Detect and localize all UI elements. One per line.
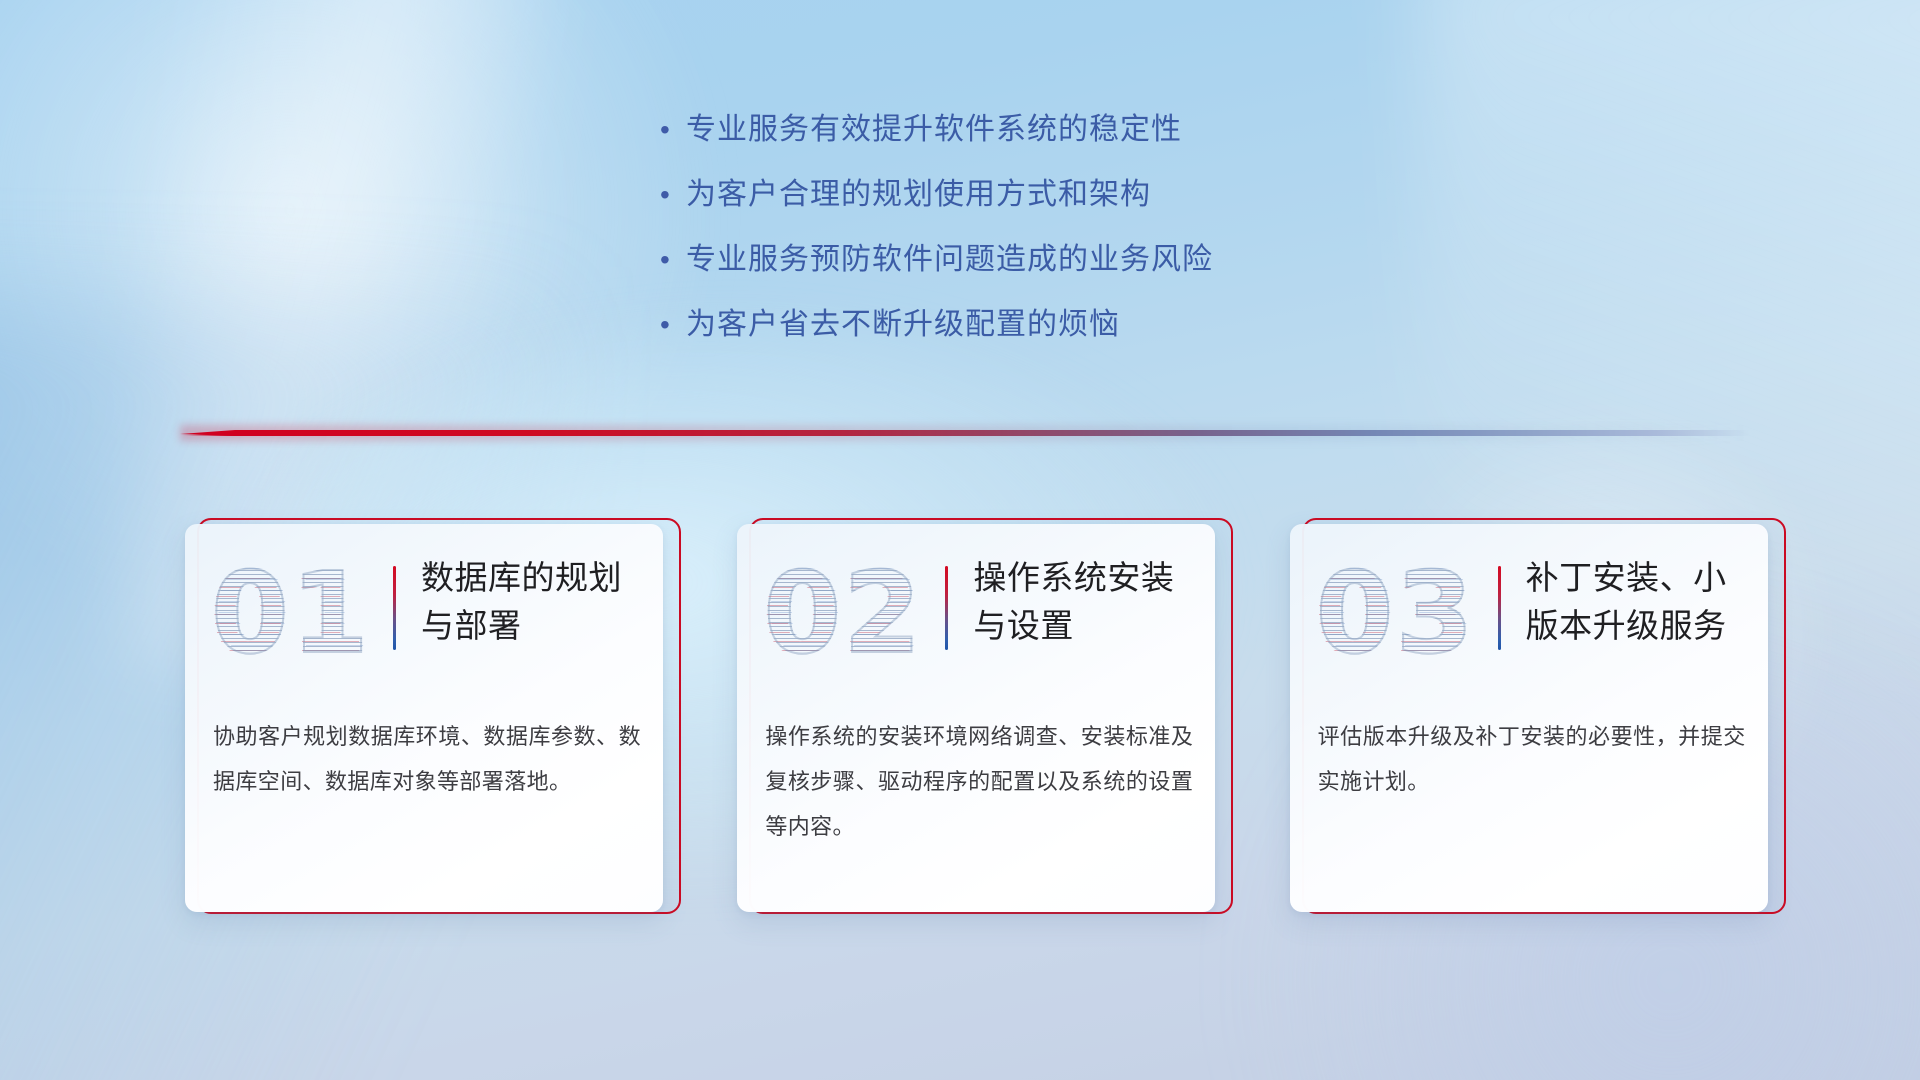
bullet-text: 为客户省去不断升级配置的烦恼 — [686, 303, 1120, 347]
card-title: 补丁安装、小版本升级服务 — [1526, 554, 1752, 650]
card-surface: 01 01 01 数据库的规划与部署 协助客户规划数据库环境、数据库参数、数据库… — [185, 524, 663, 912]
card-body-text: 协助客户规划数据库环境、数据库参数、数据库空间、数据库对象等部署落地。 — [213, 714, 641, 804]
bullet-item: • 为客户合理的规划使用方式和架构 — [660, 173, 1420, 238]
card-body-text: 评估版本升级及补丁安装的必要性，并提交实施计划。 — [1318, 714, 1746, 804]
service-card-list: 01 01 01 数据库的规划与部署 协助客户规划数据库环境、数据库参数、数据库… — [185, 518, 1785, 918]
bullet-item: • 专业服务预防软件问题造成的业务风险 — [660, 238, 1420, 303]
bullet-text: 为客户合理的规划使用方式和架构 — [686, 173, 1151, 217]
bullet-text: 专业服务有效提升软件系统的稳定性 — [686, 108, 1182, 152]
card-surface: 03 03 03 补丁安装、小版本升级服务 评估版本升级及补丁安装的必要性，并提… — [1290, 524, 1768, 912]
service-card-01[interactable]: 01 01 01 数据库的规划与部署 协助客户规划数据库环境、数据库参数、数据库… — [185, 518, 680, 918]
card-body-text: 操作系统的安装环境网络调查、安装标准及复核步骤、驱动程序的配置以及系统的设置等内… — [765, 714, 1193, 849]
service-card-02[interactable]: 02 02 02 操作系统安装与设置 操作系统的安装环境网络调查、安装标准及复核… — [737, 518, 1232, 918]
card-title: 数据库的规划与部署 — [421, 554, 647, 650]
card-title-rule — [393, 566, 396, 650]
card-title: 操作系统安装与设置 — [973, 554, 1199, 650]
bullet-marker-icon: • — [660, 303, 686, 347]
card-surface: 02 02 02 操作系统安装与设置 操作系统的安装环境网络调查、安装标准及复核… — [737, 524, 1215, 912]
bullet-marker-icon: • — [660, 238, 686, 282]
card-number: 02 — [763, 558, 923, 670]
bullet-text: 专业服务预防软件问题造成的业务风险 — [686, 238, 1213, 282]
card-title-rule — [945, 566, 948, 650]
benefits-bullet-list: • 专业服务有效提升软件系统的稳定性 • 为客户合理的规划使用方式和架构 • 专… — [660, 108, 1420, 368]
bullet-marker-icon: • — [660, 108, 686, 152]
card-title-rule — [1498, 566, 1501, 650]
card-number: 01 — [211, 558, 371, 670]
bullet-item: • 专业服务有效提升软件系统的稳定性 — [660, 108, 1420, 173]
bullet-marker-icon: • — [660, 173, 686, 217]
bullet-item: • 为客户省去不断升级配置的烦恼 — [660, 303, 1420, 368]
card-number: 03 — [1316, 558, 1476, 670]
service-card-03[interactable]: 03 03 03 补丁安装、小版本升级服务 评估版本升级及补丁安装的必要性，并提… — [1290, 518, 1785, 918]
